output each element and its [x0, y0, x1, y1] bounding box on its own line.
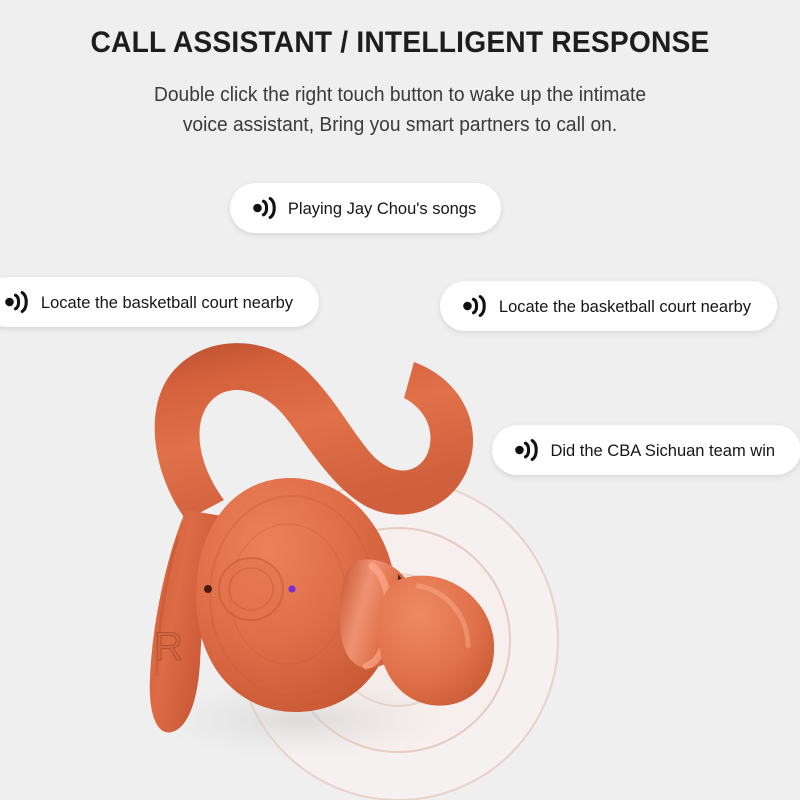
- product-feature-banner: R CALL ASSISTANT / INTELLIGENT RESPONSE …: [0, 0, 800, 800]
- touch-button-ring-inner: [229, 568, 273, 610]
- led-indicator: [288, 585, 295, 592]
- page-subtitle: Double click the right touch button to w…: [16, 80, 784, 140]
- subtitle-line-2: voice assistant, Bring you smart partner…: [16, 110, 784, 140]
- microphone-hole: [204, 585, 212, 593]
- touch-button[interactable]: [219, 558, 283, 620]
- earbud-nozzle: [340, 559, 415, 668]
- touch-button-ring-outer: [219, 558, 283, 620]
- sound-wave-icon: [514, 439, 540, 461]
- earbud-ear-hook: [155, 343, 473, 520]
- nozzle-gap-top: [398, 574, 411, 612]
- ear-tip-highlight: [418, 586, 468, 646]
- body-inner-ring: [230, 524, 346, 664]
- sound-wave-icon: [252, 197, 278, 219]
- voice-command-bubble-3[interactable]: Locate the basketball court nearby: [440, 281, 777, 331]
- earbud-tail-fin: [150, 510, 222, 733]
- nozzle-highlight: [366, 566, 389, 666]
- subtitle-line-1: Double click the right touch button to w…: [16, 80, 784, 110]
- voice-command-bubble-2[interactable]: Locate the basketball court nearby: [0, 277, 319, 327]
- bubble-label: Locate the basketball court nearby: [41, 294, 293, 311]
- earbud-ear-tip: [378, 576, 494, 706]
- earbud-body: [196, 478, 396, 712]
- nozzle-gap-bottom: [382, 640, 406, 664]
- page-title: CALL ASSISTANT / INTELLIGENT RESPONSE: [24, 26, 776, 60]
- voice-command-bubble-1[interactable]: Playing Jay Chou's songs: [230, 183, 501, 233]
- bubble-label: Playing Jay Chou's songs: [288, 200, 476, 217]
- sound-wave-icon: [462, 295, 488, 317]
- bubble-label: Did the CBA Sichuan team win: [550, 442, 775, 459]
- earbud-side-marking-R: R: [154, 625, 183, 669]
- sound-wave-icon: [4, 291, 30, 313]
- fin-crease: [157, 536, 178, 676]
- body-outer-ring: [210, 496, 374, 696]
- bubble-label: Locate the basketball court nearby: [499, 298, 751, 315]
- voice-command-bubble-4[interactable]: Did the CBA Sichuan team win: [492, 425, 800, 475]
- sound-ripple-rings: [238, 480, 558, 800]
- product-shadow: [150, 680, 450, 760]
